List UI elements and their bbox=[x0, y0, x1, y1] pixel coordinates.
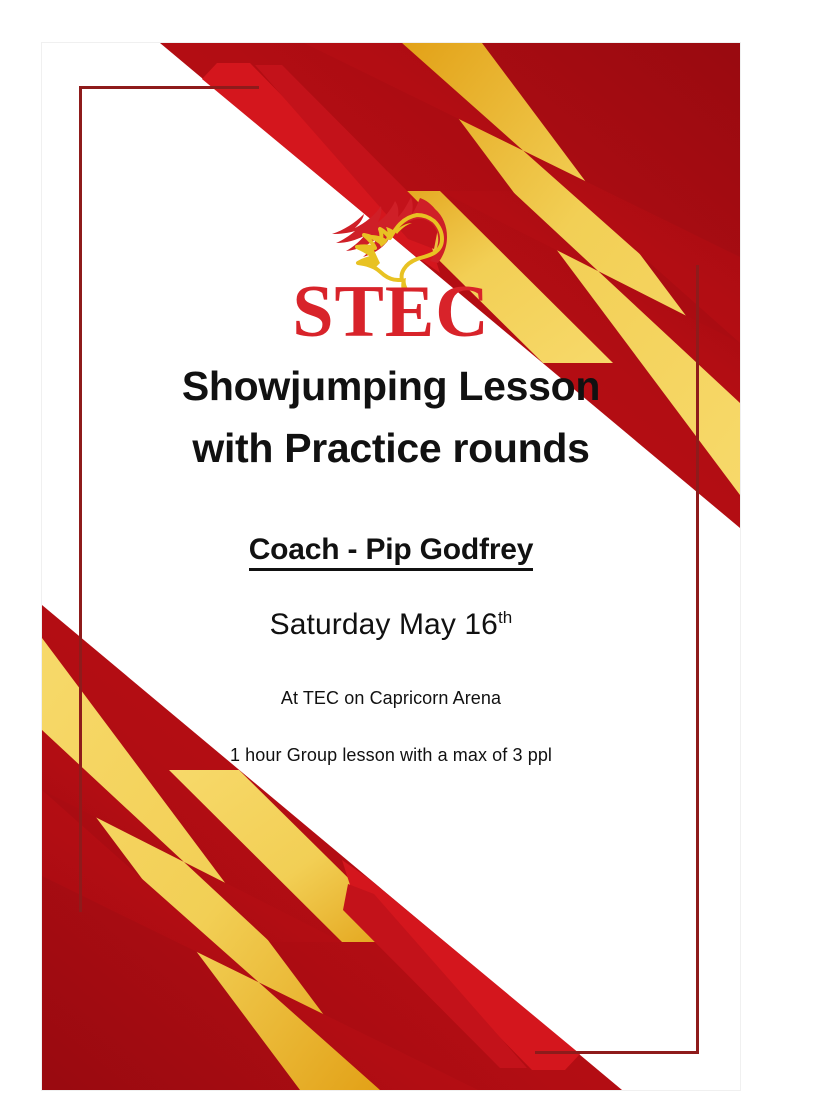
bottom-left-red-accent-stripe bbox=[343, 884, 527, 1068]
coach-name: Coach - Pip Godfrey bbox=[249, 533, 534, 571]
venue-text: At TEC on Capricorn Arena bbox=[281, 688, 501, 708]
bottom-left-gold-band-notch bbox=[169, 770, 413, 942]
bottom-left-red-overlay-stripe bbox=[42, 730, 478, 1090]
event-date-ordinal: th bbox=[498, 608, 512, 627]
frame-line-top bbox=[79, 86, 259, 89]
details-section: 1 hour Group lesson with a max of 3 ppl bbox=[42, 745, 740, 766]
stec-wordmark: STEC bbox=[276, 275, 506, 349]
poster-page: STEC Showjumping Lesson with Practice ro… bbox=[42, 43, 740, 1090]
date-section: Saturday May 16th bbox=[42, 608, 740, 642]
bottom-left-red-arrow-stripe bbox=[342, 860, 580, 1070]
event-date-text: Saturday May 16 bbox=[270, 608, 498, 641]
frame-line-left bbox=[79, 86, 82, 912]
details-text: 1 hour Group lesson with a max of 3 ppl bbox=[230, 745, 552, 765]
coach-section: Coach - Pip Godfrey bbox=[42, 533, 740, 571]
bottom-left-red-mass bbox=[42, 605, 622, 1090]
venue-section: At TEC on Capricorn Arena bbox=[42, 688, 740, 709]
poster-title-line-2: with Practice rounds bbox=[42, 417, 740, 479]
stec-logo: STEC bbox=[276, 193, 506, 349]
frame-line-bottom bbox=[535, 1051, 699, 1054]
poster-title: Showjumping Lesson with Practice rounds bbox=[42, 355, 740, 480]
poster-title-line-1: Showjumping Lesson bbox=[42, 355, 740, 417]
event-date: Saturday May 16th bbox=[270, 608, 513, 641]
